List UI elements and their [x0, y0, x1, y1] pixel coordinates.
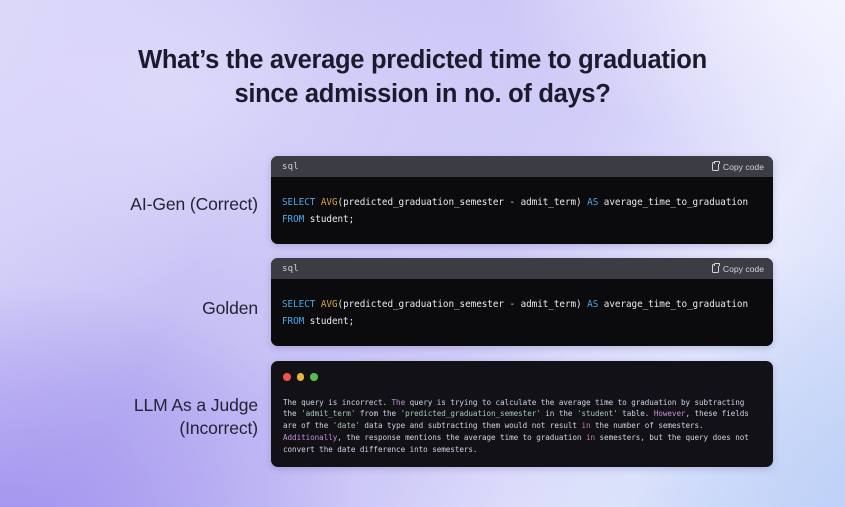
- code-language-label: sql: [282, 162, 299, 172]
- sql-keyword-from: FROM: [282, 214, 304, 225]
- judge-str-predicted-graduation-semester: 'predicted_graduation_semester': [401, 409, 541, 418]
- sql-keyword-select: SELECT: [282, 299, 315, 310]
- judge-em-in-2: in: [586, 433, 595, 442]
- judge-str-admit-term: 'admit_term': [301, 409, 355, 418]
- code-card-header: sql Copy code: [271, 156, 773, 177]
- clipboard-icon: [712, 264, 719, 273]
- clipboard-icon: [712, 162, 719, 171]
- sql-keyword-as: AS: [587, 197, 598, 208]
- copy-code-button[interactable]: Copy code: [712, 162, 764, 172]
- copy-code-label: Copy code: [723, 264, 764, 274]
- judge-hl-however: However: [654, 409, 686, 418]
- row-label-llm-judge-line-1: LLM As a Judge: [134, 395, 258, 415]
- window-traffic-lights: [271, 371, 773, 381]
- judge-hl-additionally: Additionally: [283, 433, 337, 442]
- judge-verdict-text: The query is incorrect. The query is try…: [271, 397, 773, 457]
- code-card-header: sql Copy code: [271, 258, 773, 279]
- close-dot-icon[interactable]: [283, 373, 291, 381]
- judge-hl-the: The: [392, 398, 406, 407]
- page-title-line-2: since admission in no. of days?: [34, 78, 811, 112]
- judge-seg-1: The query is incorrect.: [283, 398, 392, 407]
- sql-alias: average_time_to_graduation: [598, 299, 748, 310]
- judge-seg-5: table.: [618, 409, 654, 418]
- page-title-line-1: What’s the average predicted time to gra…: [34, 44, 811, 78]
- code-block-ai-gen: SELECT AVG(predicted_graduation_semester…: [271, 177, 773, 244]
- sql-args: (predicted_graduation_semester - admit_t…: [338, 299, 588, 310]
- row-label-ai-gen: AI-Gen (Correct): [36, 193, 258, 216]
- sql-function-avg: AVG: [321, 299, 338, 310]
- sql-keyword-from: FROM: [282, 316, 304, 327]
- page-title: What’s the average predicted time to gra…: [0, 44, 845, 112]
- judge-card: The query is incorrect. The query is try…: [271, 361, 773, 467]
- judge-seg-4: in the: [541, 409, 577, 418]
- code-language-label: sql: [282, 264, 299, 274]
- judge-em-in-1: in: [581, 421, 590, 430]
- sql-alias: average_time_to_graduation: [598, 197, 748, 208]
- sql-table: student;: [304, 316, 354, 327]
- copy-code-button[interactable]: Copy code: [712, 264, 764, 274]
- judge-str-student: 'student': [577, 409, 618, 418]
- code-block-golden: SELECT AVG(predicted_graduation_semester…: [271, 279, 773, 346]
- judge-seg-7: data type and subtracting them would not…: [360, 421, 582, 430]
- judge-seg-8: the number of semesters.: [591, 421, 704, 430]
- copy-code-label: Copy code: [723, 162, 764, 172]
- row-label-llm-judge: LLM As a Judge (Incorrect): [36, 394, 258, 440]
- judge-seg-9: , the response mentions the average time…: [337, 433, 586, 442]
- row-label-golden: Golden: [36, 297, 258, 320]
- judge-seg-3: from the: [355, 409, 400, 418]
- sql-args: (predicted_graduation_semester - admit_t…: [338, 197, 588, 208]
- sql-keyword-select: SELECT: [282, 197, 315, 208]
- minimize-dot-icon[interactable]: [297, 373, 305, 381]
- slide-canvas: What’s the average predicted time to gra…: [0, 0, 845, 507]
- maximize-dot-icon[interactable]: [310, 373, 318, 381]
- sql-table: student;: [304, 214, 354, 225]
- code-card-golden: sql Copy code SELECT AVG(predicted_gradu…: [271, 258, 773, 346]
- sql-function-avg: AVG: [321, 197, 338, 208]
- code-card-ai-gen: sql Copy code SELECT AVG(predicted_gradu…: [271, 156, 773, 244]
- judge-str-date: 'date': [333, 421, 360, 430]
- row-label-llm-judge-line-2: (Incorrect): [179, 418, 258, 438]
- sql-keyword-as: AS: [587, 299, 598, 310]
